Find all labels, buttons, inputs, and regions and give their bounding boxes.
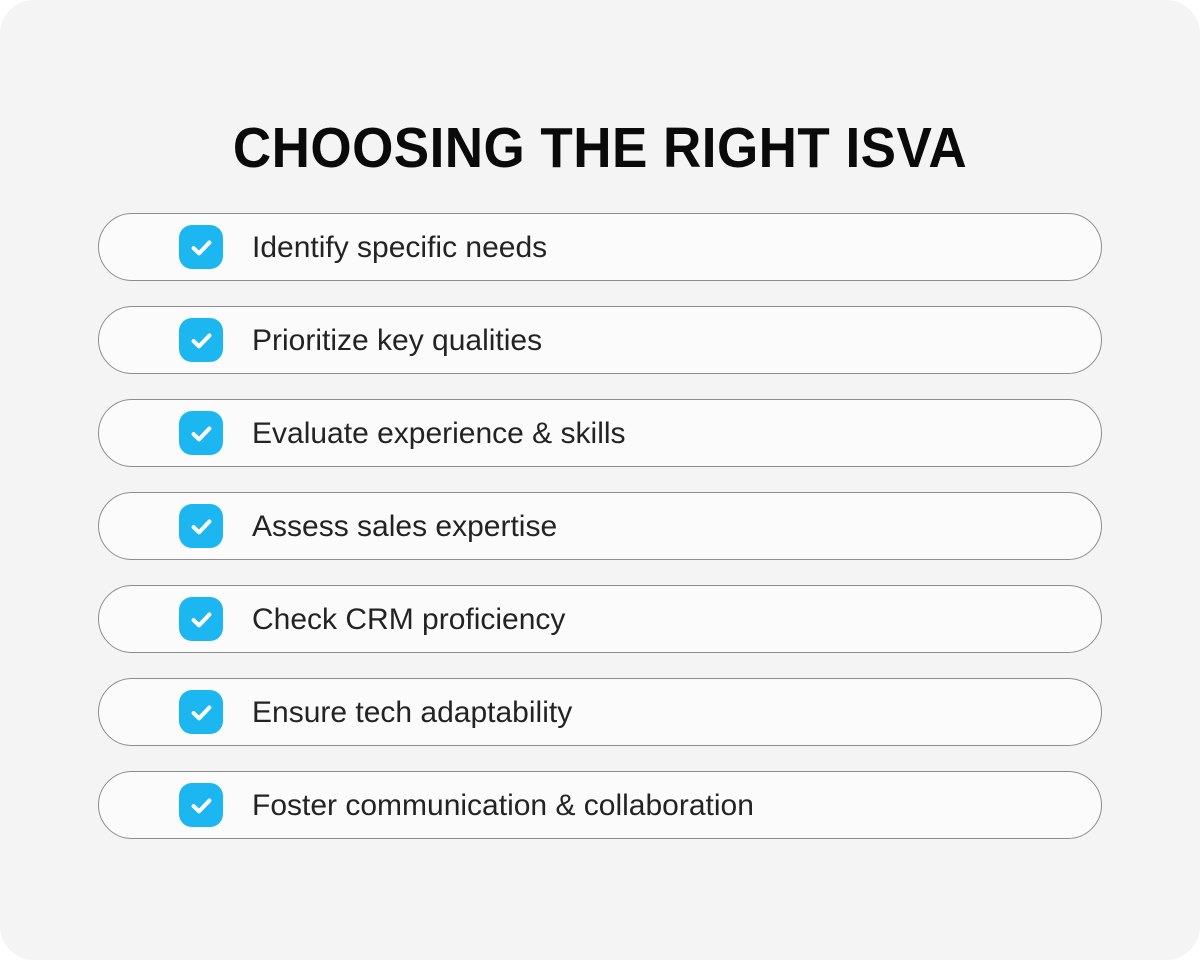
checklist-item-2[interactable]: Evaluate experience & skills (98, 399, 1102, 467)
checkbox-5[interactable] (179, 690, 223, 734)
checklist-item-label: Ensure tech adaptability (252, 696, 572, 729)
check-icon (188, 234, 215, 261)
checklist-item-0[interactable]: Identify specific needs (98, 213, 1102, 281)
checkbox-2[interactable] (179, 411, 223, 455)
page-title: CHOOSING THE RIGHT ISVA (42, 120, 1158, 177)
checklist-item-label: Identify specific needs (252, 231, 547, 264)
checkbox-4[interactable] (179, 597, 223, 641)
checklist-item-5[interactable]: Ensure tech adaptability (98, 678, 1102, 746)
checklist-item-label: Foster communication & collaboration (252, 789, 754, 822)
checklist: Identify specific needs Prioritize key q… (98, 213, 1102, 839)
checklist-card: CHOOSING THE RIGHT ISVA Identify specifi… (0, 0, 1200, 960)
checklist-item-label: Prioritize key qualities (252, 324, 542, 357)
checklist-item-6[interactable]: Foster communication & collaboration (98, 771, 1102, 839)
checklist-item-1[interactable]: Prioritize key qualities (98, 306, 1102, 374)
checkbox-6[interactable] (179, 783, 223, 827)
checklist-item-3[interactable]: Assess sales expertise (98, 492, 1102, 560)
check-icon (188, 606, 215, 633)
check-icon (188, 327, 215, 354)
checklist-item-4[interactable]: Check CRM proficiency (98, 585, 1102, 653)
check-icon (188, 420, 215, 447)
checkbox-3[interactable] (179, 504, 223, 548)
checklist-item-label: Evaluate experience & skills (252, 417, 626, 450)
checkbox-1[interactable] (179, 318, 223, 362)
checklist-item-label: Check CRM proficiency (252, 603, 565, 636)
check-icon (188, 513, 215, 540)
check-icon (188, 792, 215, 819)
card-content: CHOOSING THE RIGHT ISVA Identify specifi… (0, 0, 1200, 960)
checkbox-0[interactable] (179, 225, 223, 269)
checklist-item-label: Assess sales expertise (252, 510, 557, 543)
check-icon (188, 699, 215, 726)
